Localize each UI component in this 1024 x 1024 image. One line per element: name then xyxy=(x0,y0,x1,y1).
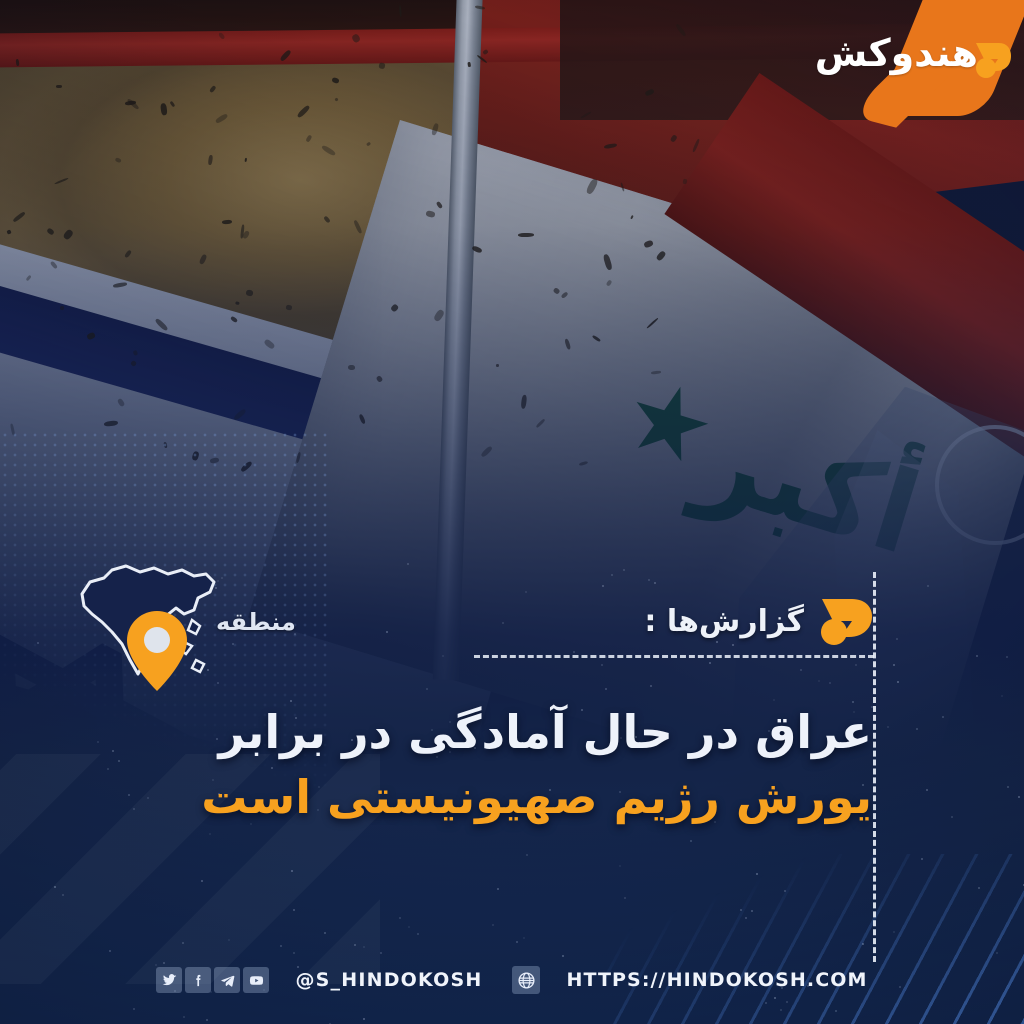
headline: عراق در حال آمادگی در برابر یورش رژیم صه… xyxy=(112,700,872,831)
diagonal-stripes-pattern xyxy=(604,854,1024,1024)
headline-line1-accent: یورش رژیم xyxy=(614,770,872,824)
twitter-icon[interactable] xyxy=(156,967,182,993)
location-pin-icon xyxy=(126,610,188,692)
news-graphic-card: أكبر هندوکش xyxy=(0,0,1024,1024)
footer-bar: @S_HINDOKOSH HTTPS://HINDOKOSH.COM xyxy=(0,962,1024,998)
headline-line2-accent: صهیونیستی است xyxy=(201,770,597,824)
brand-logo[interactable]: هندوکش xyxy=(818,0,1024,108)
category-label: گزارش‌ها : xyxy=(644,604,804,639)
social-icon-group xyxy=(156,967,269,993)
telegram-icon[interactable] xyxy=(214,967,240,993)
region-badge: منطقه xyxy=(48,556,298,686)
website-url: HTTPS://HINDOKOSH.COM xyxy=(566,969,867,991)
category-logo-mark-icon xyxy=(816,596,874,646)
category-row: گزارش‌ها : xyxy=(644,596,874,646)
facebook-icon[interactable] xyxy=(185,967,211,993)
youtube-icon[interactable] xyxy=(243,967,269,993)
hindokosh-logo-mark-icon xyxy=(972,38,1012,80)
headline-line1-plain: عراق در حال آمادگی در برابر xyxy=(219,705,872,759)
brand-wordmark: هندوکش xyxy=(815,34,978,72)
dashed-horizontal-guide xyxy=(474,655,874,658)
globe-icon[interactable] xyxy=(512,966,540,994)
region-label: منطقه xyxy=(216,608,296,636)
social-handle: @S_HINDOKOSH xyxy=(295,969,482,991)
